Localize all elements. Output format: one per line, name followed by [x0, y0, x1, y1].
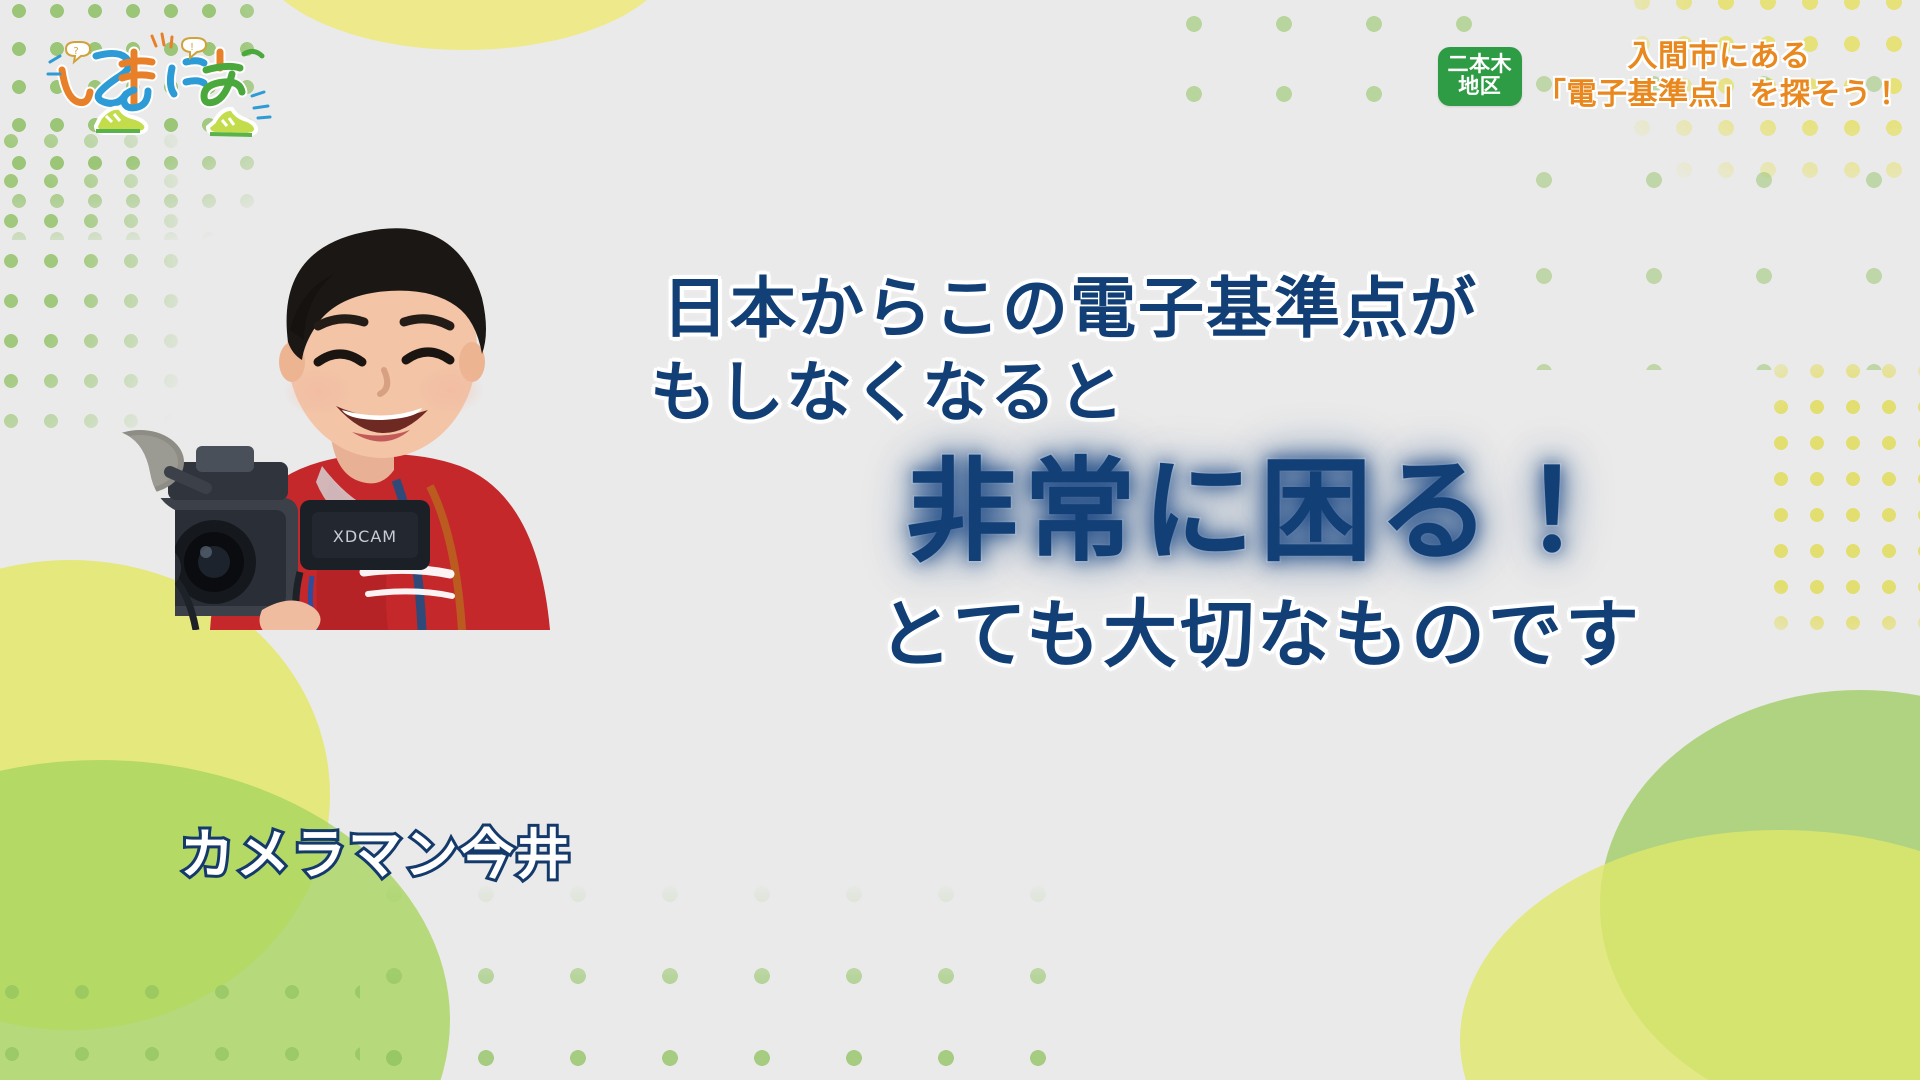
decorative-blob-bottomright-yellow	[1460, 830, 1920, 1080]
video-frame: ? ! 二本	[0, 0, 1920, 1080]
caption-emphasis: 非常に困る！	[650, 450, 1870, 575]
svg-text:XDCAM: XDCAM	[333, 527, 397, 546]
polka-dots-top-center	[1180, 10, 1480, 150]
polka-dots-bottom-left	[0, 980, 360, 1080]
caption-line-2: もしなくなると	[650, 354, 1870, 432]
caption-block: 日本からこの電子基準点が もしなくなると 非常に困る！ とても大切なものです	[650, 270, 1870, 678]
svg-text:!: !	[190, 42, 194, 53]
decorative-blob-top-yellow	[255, 0, 675, 50]
sneaker-icon	[96, 108, 256, 135]
program-title: 入間市にある 「電子基準点」を探そう！	[1536, 38, 1902, 115]
program-logo: ? !	[38, 30, 288, 140]
svg-text:?: ?	[73, 46, 78, 57]
decorative-blob-bottomleft-green	[0, 760, 450, 1080]
sparkle-icon	[152, 34, 172, 47]
district-badge-line2: 地区	[1448, 75, 1513, 98]
decorative-blob-bottomright-green	[1600, 690, 1920, 1080]
speaker-name-label: カメラマン今井	[180, 810, 572, 889]
polka-dots-bottom	[380, 880, 1100, 1080]
district-badge-line1: 二本木	[1448, 53, 1513, 76]
caption-line-4: とても大切なものです	[650, 593, 1870, 678]
district-badge: 二本木 地区	[1438, 47, 1523, 106]
caption-line-1: 日本からこの電子基準点が	[662, 270, 1870, 348]
cameraman-photo: XDCAM	[0, 180, 600, 780]
header-right: 二本木 地区 入間市にある 「電子基準点」を探そう！	[1438, 38, 1903, 115]
program-title-line2: 「電子基準点」を探そう！	[1536, 76, 1902, 114]
program-title-line1: 入間市にある	[1536, 38, 1902, 76]
